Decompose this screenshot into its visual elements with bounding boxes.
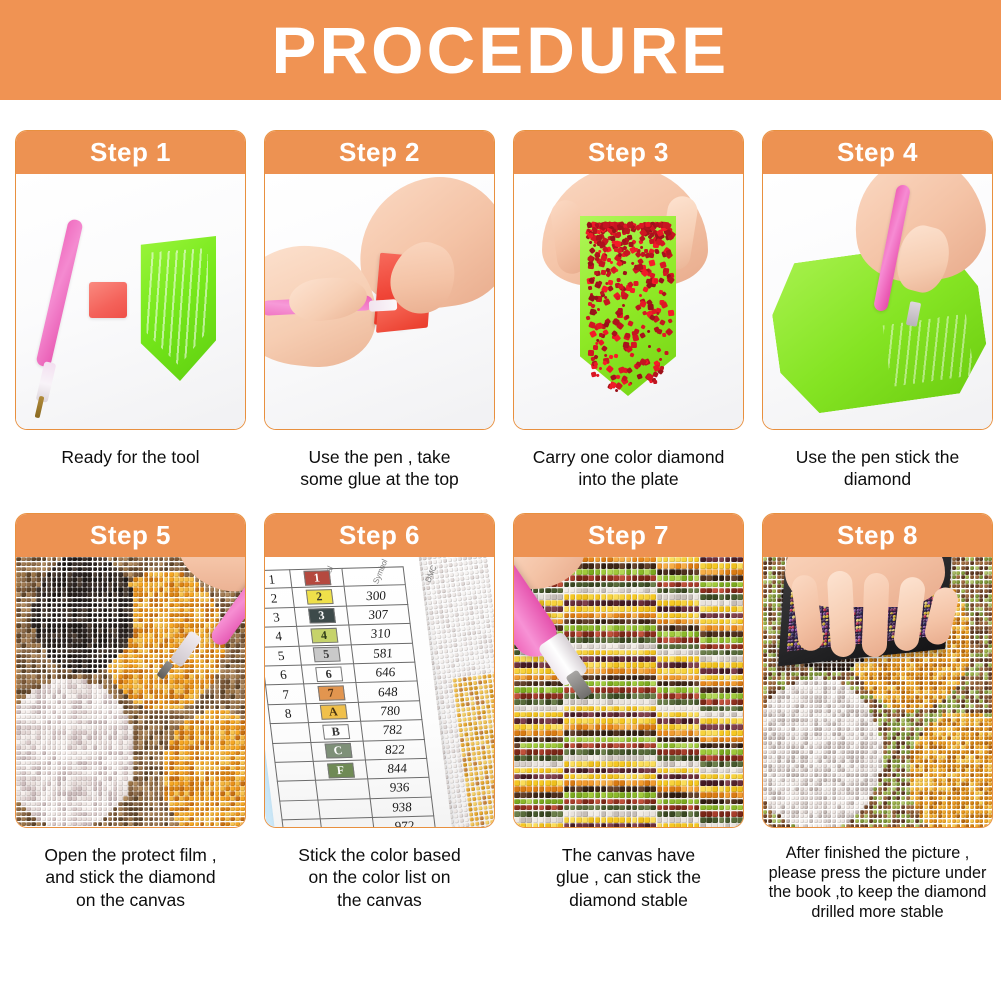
chart-symbol-swatch: F: [326, 762, 354, 778]
sticking-diamond-photo: [514, 557, 743, 827]
chart-cell-symbol: 6: [301, 664, 356, 685]
caption-line: the canvas: [262, 889, 497, 911]
step-1-image: [16, 174, 245, 429]
caption-line: Carry one color diamond: [511, 446, 746, 468]
chart-cell-symbol: C: [310, 741, 365, 762]
chart-cell-dmc: 936: [367, 778, 432, 799]
chart-cell-symbol: B: [308, 722, 363, 743]
caption-line: and stick the diamond: [13, 866, 248, 888]
chart-cell-symbol: 2: [291, 587, 346, 608]
step-3-caption: Carry one color diamond into the plate: [511, 446, 746, 491]
chart-cell-serial: 6: [265, 665, 303, 685]
step-5-caption: Open the protect film , and stick the di…: [13, 844, 248, 911]
chart-cell-serial: [277, 781, 318, 801]
steps-row-bottom: Step 5 Open the protect film , and stick…: [0, 513, 1001, 923]
procedure-infographic: PROCEDURE Step 1: [0, 0, 1001, 1001]
step-4-header: Step 4: [763, 131, 992, 174]
chart-cell-symbol: 5: [299, 645, 354, 666]
caption-line: After finished the picture ,: [756, 844, 1000, 864]
step-5-header: Step 5: [16, 514, 245, 557]
caption-line: diamond stable: [511, 889, 746, 911]
step-3-card: Step 3: [513, 130, 744, 430]
caption-line: the book ,to keep the diamond: [756, 883, 1000, 903]
step-2-card: Step 2: [264, 130, 495, 430]
chart-cell-symbol: 4: [296, 625, 351, 646]
color-chart-photo: Serial Symbol DMC 1122300333074431055581…: [265, 557, 494, 827]
caption-line: drilled more stable: [756, 903, 1000, 923]
step-7-label: Step 7: [588, 520, 669, 551]
chart-cell-dmc: [341, 566, 406, 587]
caption-line: The canvas have: [511, 844, 746, 866]
step-2-header: Step 2: [265, 131, 494, 174]
chart-cell-serial: [272, 742, 313, 762]
chart-cell-serial: 8: [267, 704, 308, 724]
step-3-image: [514, 174, 743, 429]
step-8-label: Step 8: [837, 520, 918, 551]
caption-line: Open the protect film ,: [13, 844, 248, 866]
chart-cell-symbol: [320, 818, 375, 827]
caption-line: some glue at the top: [262, 468, 497, 490]
red-diamonds-cluster: [514, 174, 743, 429]
chart-cell-symbol: F: [313, 760, 368, 781]
diamond-mosaic: [16, 557, 245, 827]
chart-cell-serial: [279, 800, 320, 820]
step-2-label: Step 2: [339, 137, 420, 168]
step-6-header: Step 6: [265, 514, 494, 557]
chart-cell-dmc: 782: [360, 720, 425, 741]
chart-symbol-swatch: 4: [310, 627, 338, 643]
tool-photo: [16, 174, 245, 429]
chart-symbol-swatch: A: [319, 704, 347, 720]
caption-line: Stick the color based: [262, 844, 497, 866]
finger-icon: [862, 572, 890, 657]
step-1-caption: Ready for the tool: [13, 446, 248, 468]
step-5-image: [16, 557, 245, 827]
caption-line: please press the picture under: [756, 864, 1000, 884]
step-4-image: [763, 174, 992, 429]
step-2-image: [265, 174, 494, 429]
chart-cell-serial: [270, 723, 311, 743]
chart-cell-dmc: 972: [372, 816, 437, 827]
step-7-header: Step 7: [514, 514, 743, 557]
chart-cell-dmc: 307: [346, 605, 411, 626]
diamond-rows-mosaic: [514, 557, 743, 827]
chart-cell-dmc: 844: [365, 759, 430, 780]
chart-cell-serial: 5: [265, 646, 301, 666]
chart-cell-dmc: 780: [358, 701, 423, 722]
step-7-card: Step 7: [513, 513, 744, 828]
chart-symbol-swatch: B: [322, 724, 350, 740]
step-5-label: Step 5: [90, 520, 171, 551]
chart-cell-symbol: [317, 799, 372, 820]
step-2-caption: Use the pen , take some glue at the top: [262, 446, 497, 491]
caption-line: into the plate: [511, 468, 746, 490]
step-7-caption: The canvas have glue , can stick the dia…: [511, 844, 746, 911]
caption-line: on the color list on: [262, 866, 497, 888]
step-card-8: Step 8: [755, 513, 1000, 923]
caption-line: on the canvas: [13, 889, 248, 911]
step-3-header: Step 3: [514, 131, 743, 174]
chart-symbol-swatch: C: [324, 743, 352, 759]
page-banner: PROCEDURE: [0, 0, 1001, 100]
step-4-label: Step 4: [837, 137, 918, 168]
caption-line: glue , can stick the: [511, 866, 746, 888]
glue-pickup-photo: [265, 174, 494, 429]
pen-tip-icon: [369, 299, 398, 311]
step-card-5: Step 5 Open the protect film , and stick…: [8, 513, 253, 923]
chart-cell-dmc: 581: [351, 643, 416, 664]
step-6-caption: Stick the color based on the color list …: [262, 844, 497, 911]
chart-cell-serial: 4: [265, 627, 299, 647]
finger-icon: [827, 570, 856, 657]
chart-cell-dmc: 646: [353, 662, 418, 683]
step-5-card: Step 5: [15, 513, 246, 828]
chart-cell-symbol: A: [306, 702, 361, 723]
step-1-card: Step 1: [15, 130, 246, 430]
caption-line: diamond: [760, 468, 995, 490]
chart-cell-symbol: [315, 779, 370, 800]
step-8-image: [763, 557, 992, 827]
chart-cell-dmc: 300: [344, 585, 409, 606]
chart-cell-symbol: 3: [294, 606, 349, 627]
chart-cell-dmc: 648: [355, 682, 420, 703]
page-title: PROCEDURE: [272, 17, 730, 83]
pink-pen-icon: [35, 218, 83, 368]
step-8-caption: After finished the picture , please pres…: [756, 844, 1000, 923]
press-with-book-photo: [763, 557, 992, 827]
step-6-card: Step 6 Serial Symbol DMC: [264, 513, 495, 828]
step-card-2: Step 2 Use the pen , take: [257, 130, 502, 491]
caption-line: Use the pen stick the: [760, 446, 995, 468]
step-card-4: Step 4 Use the pen stic: [755, 130, 1000, 491]
step-6-image: Serial Symbol DMC 1122300333074431055581…: [265, 557, 494, 827]
caption-line: Use the pen , take: [262, 446, 497, 468]
chart-cell-serial: [275, 762, 316, 782]
chart-symbol-swatch: 7: [317, 685, 345, 701]
step-card-3: Step 3 Carry one color diamond into the …: [506, 130, 751, 491]
chart-cell-dmc: 938: [370, 797, 435, 818]
step-8-card: Step 8: [762, 513, 993, 828]
chart-symbol-swatch: 6: [315, 666, 343, 682]
step-1-label: Step 1: [90, 137, 171, 168]
step-1-header: Step 1: [16, 131, 245, 174]
sunflower-mosaic-photo: [16, 557, 245, 827]
chart-symbol-swatch: 2: [305, 589, 333, 605]
step-4-card: Step 4: [762, 130, 993, 430]
step-card-1: Step 1 Ready for the tool: [8, 130, 253, 491]
step-4-caption: Use the pen stick the diamond: [760, 446, 995, 491]
chart-symbol-swatch: 3: [308, 608, 336, 624]
chart-cell-serial: 2: [265, 588, 294, 608]
step-7-image: [514, 557, 743, 827]
chart-cell-serial: [282, 819, 323, 827]
chart-cell-serial: 1: [265, 569, 291, 589]
chart-cell-symbol: 1: [289, 568, 344, 589]
chart-symbol-swatch: 5: [312, 647, 340, 663]
step-6-label: Step 6: [339, 520, 420, 551]
tray-with-diamonds-photo: [514, 174, 743, 429]
pen-stick-diamond-photo: [763, 174, 992, 429]
chart-cell-serial: 3: [265, 608, 296, 628]
glue-square-icon: [89, 282, 127, 318]
chart-symbol-swatch: 1: [303, 570, 331, 586]
chart-cell-symbol: 7: [303, 683, 358, 704]
chart-cell-serial: 7: [265, 685, 306, 705]
chart-cell-dmc: 822: [363, 739, 428, 760]
step-card-6: Step 6 Serial Symbol DMC: [257, 513, 502, 923]
step-8-header: Step 8: [763, 514, 992, 557]
step-3-label: Step 3: [588, 137, 669, 168]
steps-row-top: Step 1 Ready for the tool: [0, 130, 1001, 491]
chart-cell-dmc: 310: [348, 624, 413, 645]
step-card-7: Step 7 The canvas have glue , can stick …: [506, 513, 751, 923]
